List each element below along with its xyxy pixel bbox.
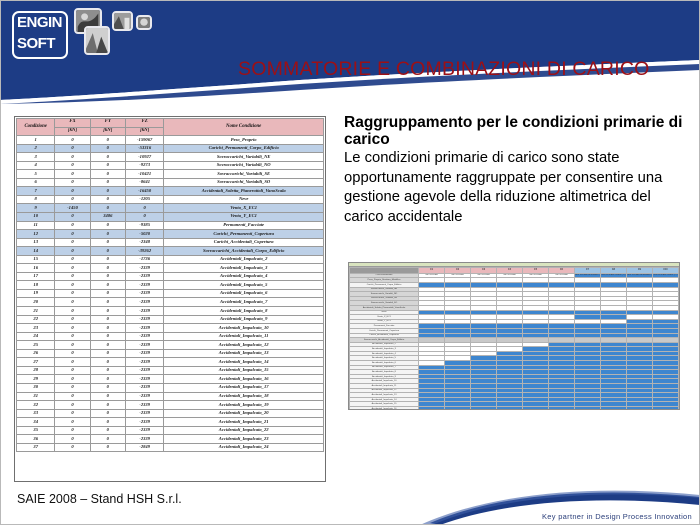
fz-value: -1205	[125, 195, 163, 204]
table-row[interactable]: 300-10927Sovraccarichi_Variabili_NE	[17, 153, 324, 162]
condition-name: Accidentali_Soletta_Pianerottoli_VanoSca…	[164, 187, 324, 196]
cond-number: 19	[17, 289, 55, 298]
matrix-cell	[419, 407, 445, 410]
load-conditions-table: Condizione FX FY FZ Nome Condizione [kN]…	[16, 118, 324, 452]
fy-value: 0	[90, 281, 125, 290]
table-row[interactable]: 1100-9385Permanenti_Facciate	[17, 221, 324, 230]
table-row[interactable]: 1600-2339Accidentali_Impalcato_3	[17, 264, 324, 273]
col-unit-fz: [kN]	[125, 127, 163, 136]
fy-value: 0	[90, 272, 125, 281]
fx-value: 0	[55, 315, 90, 324]
fx-value: -1450	[55, 204, 90, 213]
condition-name: Accidentali_Impalcato_2	[164, 255, 324, 264]
fx-value: 0	[55, 418, 90, 427]
fz-value: -2339	[125, 366, 163, 375]
matrix-cell	[445, 407, 471, 410]
fz-value: -2339	[125, 324, 163, 333]
condition-name: Accidentali_Impalcato_16	[164, 375, 324, 384]
cond-number: 34	[17, 418, 55, 427]
fx-value: 0	[55, 187, 90, 196]
fy-value: 0	[90, 289, 125, 298]
condition-name: Carichi_Permanenti_Copertura	[164, 230, 324, 239]
fy-value: 0	[90, 358, 125, 367]
condition-name: Carichi_Permanenti_Corpo_Edificio	[164, 144, 324, 153]
fy-value: 0	[90, 221, 125, 230]
cond-number: 10	[17, 213, 55, 222]
cond-number: 6	[17, 178, 55, 187]
table-row[interactable]: 3600-2339Accidentali_Impalcato_23	[17, 435, 324, 444]
fy-value: 0	[90, 178, 125, 187]
fy-value: 0	[90, 187, 125, 196]
condition-name: Accidentali_Impalcato_19	[164, 401, 324, 410]
cond-number: 23	[17, 324, 55, 333]
fx-value: 0	[55, 435, 90, 444]
fz-value: -9273	[125, 161, 163, 170]
combinations-matrix-container: C1C2C3C4C5C6C7C8C9C10 Caso ElementareNon…	[348, 262, 680, 410]
fz-value: -159067	[125, 136, 163, 145]
fz-value: -10927	[125, 153, 163, 162]
footer-art: Key partner in Design Process Innovation	[0, 483, 700, 525]
description-heading: Raggruppamento per le condizioni primari…	[344, 114, 692, 148]
fx-value: 0	[55, 349, 90, 358]
fz-value: -8641	[125, 178, 163, 187]
fx-value: 0	[55, 230, 90, 239]
table-row[interactable]: 2300-2339Accidentali_Impalcato_10	[17, 324, 324, 333]
table-row[interactable]: 1200-5020Carichi_Permanenti_Copertura	[17, 230, 324, 239]
combinations-matrix-table: C1C2C3C4C5C6C7C8C9C10 Caso ElementareNon…	[349, 267, 679, 410]
matrix-cell	[523, 407, 549, 410]
cond-number: 1	[17, 136, 55, 145]
table-row[interactable]: 2400-2339Accidentali_Impalcato_11	[17, 332, 324, 341]
fx-value: 0	[55, 213, 90, 222]
col-header-nome-condizione: Nome Condizione	[164, 119, 324, 136]
fz-value: -2339	[125, 392, 163, 401]
table-row[interactable]: 1500-1736Accidentali_Impalcato_2	[17, 255, 324, 264]
cond-number: 25	[17, 341, 55, 350]
matrix-cell	[497, 407, 523, 410]
logo-thumbnail-3	[112, 11, 133, 31]
fz-value: -2339	[125, 375, 163, 384]
fx-value: 0	[55, 409, 90, 418]
fy-value: 0	[90, 195, 125, 204]
cond-number: 27	[17, 358, 55, 367]
condition-name: Accidentali_Impalcato_22	[164, 426, 324, 435]
fx-value: 0	[55, 392, 90, 401]
col-unit-fy: [kN]	[90, 127, 125, 136]
table-header: Condizione FX FY FZ Nome Condizione [kN]…	[17, 119, 324, 136]
fy-value: 0	[90, 153, 125, 162]
table-row[interactable]: 3200-2339Accidentali_Impalcato_19	[17, 401, 324, 410]
table-row[interactable]: 3000-2339Accidentali_Impalcato_17	[17, 383, 324, 392]
table-row[interactable]: 3500-2339Accidentali_Impalcato_22	[17, 426, 324, 435]
table-row[interactable]: 9-145000Vento_X_EC1	[17, 204, 324, 213]
fx-value: 0	[55, 426, 90, 435]
cond-number: 26	[17, 349, 55, 358]
footer-tagline: Key partner in Design Process Innovation	[542, 512, 692, 521]
fy-value: 0	[90, 307, 125, 316]
cond-number: 7	[17, 187, 55, 196]
fy-value: 0	[90, 443, 125, 452]
fx-value: 0	[55, 375, 90, 384]
description-body: Le condizioni primarie di carico sono st…	[344, 149, 692, 227]
condition-name: Sovraccarichi_Accidentali_Corpo_Edificio	[164, 247, 324, 256]
cond-number: 21	[17, 307, 55, 316]
fy-value: 0	[90, 401, 125, 410]
fy-value: 0	[90, 392, 125, 401]
condition-name: Accidentali_Impalcato_17	[164, 383, 324, 392]
table-row[interactable]: 600-8641Sovraccarichi_Variabili_SO	[17, 178, 324, 187]
cond-number: 30	[17, 383, 55, 392]
table-row[interactable]: 1800-2339Accidentali_Impalcato_5	[17, 281, 324, 290]
fz-value: -2339	[125, 418, 163, 427]
table-row[interactable]: 400-9273Sovraccarichi_Variabili_NO	[17, 161, 324, 170]
fx-value: 0	[55, 443, 90, 452]
condition-name: Accidentali_Impalcato_21	[164, 418, 324, 427]
cond-number: 5	[17, 170, 55, 179]
fz-value: -2339	[125, 289, 163, 298]
cond-number: 33	[17, 409, 55, 418]
table-row[interactable]: 2500-2339Accidentali_Impalcato_12	[17, 341, 324, 350]
cond-number: 9	[17, 204, 55, 213]
fz-value: -2339	[125, 358, 163, 367]
fz-value: -2339	[125, 383, 163, 392]
fx-value: 0	[55, 324, 90, 333]
fz-value: -2339	[125, 426, 163, 435]
fz-value: -2339	[125, 307, 163, 316]
condition-name: Accidentali_Impalcato_12	[164, 341, 324, 350]
condition-name: Neve	[164, 195, 324, 204]
condition-name: Accidentali_Impalcato_13	[164, 349, 324, 358]
table-row[interactable]: 2000-2339Accidentali_Impalcato_7	[17, 298, 324, 307]
cond-number: 20	[17, 298, 55, 307]
fz-value: -2339	[125, 272, 163, 281]
table-body: 100-159067Peso_Proprio200-53316Carichi_P…	[17, 136, 324, 452]
enginsoft-logo-text: ENGIN SOFT	[13, 12, 67, 58]
cond-number: 28	[17, 366, 55, 375]
fx-value: 0	[55, 298, 90, 307]
cond-number: 35	[17, 426, 55, 435]
cond-number: 29	[17, 375, 55, 384]
table-row[interactable]: 2900-2339Accidentali_Impalcato_16	[17, 375, 324, 384]
page-title: SOMMATORIE E COMBINAZIONI DI CARICO	[238, 58, 698, 81]
fy-value: 0	[90, 349, 125, 358]
fy-value: 0	[90, 366, 125, 375]
cond-number: 12	[17, 230, 55, 239]
fx-value: 0	[55, 358, 90, 367]
fy-value: 0	[90, 418, 125, 427]
table-row[interactable]: 200-53316Carichi_Permanenti_Corpo_Edific…	[17, 144, 324, 153]
matrix-row[interactable]: Accidentali_Impalcato_16	[350, 407, 679, 410]
fx-value: 0	[55, 144, 90, 153]
table-row[interactable]: 500-10421Sovraccarichi_Variabili_SE	[17, 170, 324, 179]
condition-name: Accidentali_Impalcato_20	[164, 409, 324, 418]
condition-name: Permanenti_Facciate	[164, 221, 324, 230]
fz-value: 0	[125, 213, 163, 222]
matrix-cell	[549, 407, 575, 410]
cond-number: 32	[17, 401, 55, 410]
fx-value: 0	[55, 272, 90, 281]
table-row[interactable]: 2100-2339Accidentali_Impalcato_8	[17, 307, 324, 316]
table-row[interactable]: 3100-2339Accidentali_Impalcato_18	[17, 392, 324, 401]
fy-value: 0	[90, 298, 125, 307]
table-row[interactable]: 100-159067Peso_Proprio	[17, 136, 324, 145]
condition-name: Accidentali_Impalcato_5	[164, 281, 324, 290]
table-row[interactable]: 2600-2339Accidentali_Impalcato_13	[17, 349, 324, 358]
fy-value: 0	[90, 315, 125, 324]
condition-name: Accidentali_Impalcato_18	[164, 392, 324, 401]
fy-value: 0	[90, 136, 125, 145]
condition-name: Accidentali_Impalcato_7	[164, 298, 324, 307]
cond-number: 24	[17, 332, 55, 341]
condition-name: Accidentali_Impalcato_8	[164, 307, 324, 316]
fz-value: -2339	[125, 332, 163, 341]
fy-value: 0	[90, 255, 125, 264]
fz-value: -10421	[125, 170, 163, 179]
cond-number: 18	[17, 281, 55, 290]
cond-number: 22	[17, 315, 55, 324]
fz-value: -2339	[125, 401, 163, 410]
cond-number: 3	[17, 153, 55, 162]
matrix-cell	[471, 407, 497, 410]
condition-name: Sovraccarichi_Variabili_SO	[164, 178, 324, 187]
fx-value: 0	[55, 332, 90, 341]
condition-name: Vento_Y_EC1	[164, 213, 324, 222]
cond-number: 36	[17, 435, 55, 444]
fx-value: 0	[55, 136, 90, 145]
matrix-cell	[626, 407, 652, 410]
condition-name: Vento_X_EC1	[164, 204, 324, 213]
fz-value: -1736	[125, 255, 163, 264]
fy-value: 0	[90, 409, 125, 418]
matrix-cell	[574, 407, 600, 410]
cond-number: 17	[17, 272, 55, 281]
cond-number: 37	[17, 443, 55, 452]
condition-name: Accidentali_Impalcato_10	[164, 324, 324, 333]
cond-number: 15	[17, 255, 55, 264]
cond-number: 8	[17, 195, 55, 204]
fz-value: -39262	[125, 247, 163, 256]
condition-name: Accidentali_Impalcato_4	[164, 272, 324, 281]
fx-value: 0	[55, 247, 90, 256]
fx-value: 0	[55, 264, 90, 273]
fx-value: 0	[55, 366, 90, 375]
condition-name: Accidentali_Impalcato_6	[164, 289, 324, 298]
cond-number: 31	[17, 392, 55, 401]
slide-header: ENGIN SOFT SOMMATORIE E COMBINAZIONI DI …	[0, 0, 700, 104]
condition-name: Accidentali_Impalcato_14	[164, 358, 324, 367]
fx-value: 0	[55, 255, 90, 264]
logo-thumbnail-4	[136, 15, 152, 30]
condition-name: Sovraccarichi_Variabili_NE	[164, 153, 324, 162]
fy-value: 0	[90, 161, 125, 170]
logo-line-2: SOFT	[17, 33, 67, 54]
fz-value: -53316	[125, 144, 163, 153]
col-header-fx: FX	[55, 119, 90, 128]
header-row-names: Condizione FX FY FZ Nome Condizione	[17, 119, 324, 128]
fx-value: 0	[55, 383, 90, 392]
matrix-cell	[600, 407, 626, 410]
cond-number: 11	[17, 221, 55, 230]
fz-value: -9385	[125, 221, 163, 230]
table-row[interactable]: 1900-2339Accidentali_Impalcato_6	[17, 289, 324, 298]
fy-value: 0	[90, 247, 125, 256]
fx-value: 0	[55, 153, 90, 162]
table-row[interactable]: 1300-2348Carichi_Accidentali_Copertura	[17, 238, 324, 247]
condition-name: Carichi_Accidentali_Copertura	[164, 238, 324, 247]
table-row[interactable]: 2800-2339Accidentali_Impalcato_15	[17, 366, 324, 375]
table-row[interactable]: 2700-2339Accidentali_Impalcato_14	[17, 358, 324, 367]
fy-value: 0	[90, 426, 125, 435]
cond-number: 14	[17, 247, 55, 256]
fx-value: 0	[55, 238, 90, 247]
table-row[interactable]: 800-1205Neve	[17, 195, 324, 204]
fz-value: -2339	[125, 349, 163, 358]
table-row[interactable]: 1400-39262Sovraccarichi_Accidentali_Corp…	[17, 247, 324, 256]
fx-value: 0	[55, 289, 90, 298]
col-header-fy: FY	[90, 119, 125, 128]
fx-value: 0	[55, 341, 90, 350]
fy-value: 0	[90, 332, 125, 341]
fy-value: 0	[90, 204, 125, 213]
fy-value: 0	[90, 144, 125, 153]
fx-value: 0	[55, 281, 90, 290]
fy-value: 0	[90, 341, 125, 350]
fx-value: 0	[55, 170, 90, 179]
fx-value: 0	[55, 401, 90, 410]
fy-value: 3486	[90, 213, 125, 222]
condition-name: Accidentali_Impalcato_24	[164, 443, 324, 452]
fz-value: -2339	[125, 341, 163, 350]
matrix-row-label: Accidentali_Impalcato_16	[350, 407, 419, 410]
table-row[interactable]: 3700-2849Accidentali_Impalcato_24	[17, 443, 324, 452]
matrix-cell	[652, 407, 678, 410]
condition-name: Accidentali_Impalcato_9	[164, 315, 324, 324]
fz-value: -2339	[125, 315, 163, 324]
fy-value: 0	[90, 264, 125, 273]
fz-value: -2339	[125, 298, 163, 307]
matrix-header: C1C2C3C4C5C6C7C8C9C10 Caso ElementareNon…	[350, 268, 679, 278]
col-header-condizione: Condizione	[17, 119, 55, 136]
cond-number: 4	[17, 161, 55, 170]
logo-line-1: ENGIN	[17, 12, 67, 33]
condition-name: Accidentali_Impalcato_23	[164, 435, 324, 444]
fx-value: 0	[55, 307, 90, 316]
fy-value: 0	[90, 170, 125, 179]
fz-value: -2348	[125, 238, 163, 247]
fz-value: 0	[125, 204, 163, 213]
table-row[interactable]: 1700-2339Accidentali_Impalcato_4	[17, 272, 324, 281]
load-conditions-table-container: Condizione FX FY FZ Nome Condizione [kN]…	[14, 116, 326, 482]
table-row[interactable]: 10034860Vento_Y_EC1	[17, 213, 324, 222]
fy-value: 0	[90, 324, 125, 333]
col-unit-fx: [kN]	[55, 127, 90, 136]
fz-value: -5020	[125, 230, 163, 239]
fz-value: -2339	[125, 435, 163, 444]
condition-name: Peso_Proprio	[164, 136, 324, 145]
fy-value: 0	[90, 230, 125, 239]
condition-name: Sovraccarichi_Variabili_NO	[164, 161, 324, 170]
table-row[interactable]: 2200-2339Accidentali_Impalcato_9	[17, 315, 324, 324]
description-block: Raggruppamento per le condizioni primari…	[344, 114, 692, 227]
fz-value: -16450	[125, 187, 163, 196]
table-row[interactable]: 3300-2339Accidentali_Impalcato_20	[17, 409, 324, 418]
fx-value: 0	[55, 221, 90, 230]
fx-value: 0	[55, 178, 90, 187]
cond-number: 16	[17, 264, 55, 273]
logo-thumbnail-2	[84, 26, 110, 55]
condition-name: Accidentali_Impalcato_15	[164, 366, 324, 375]
fz-value: -2339	[125, 264, 163, 273]
fz-value: -2339	[125, 281, 163, 290]
condition-name: Sovraccarichi_Variabili_SE	[164, 170, 324, 179]
matrix-body: Peso_Proprio_Struttura_MetallicaCarichi_…	[350, 278, 679, 410]
col-header-fz: FZ	[125, 119, 163, 128]
fz-value: -2339	[125, 409, 163, 418]
condition-name: Accidentali_Impalcato_3	[164, 264, 324, 273]
cond-number: 13	[17, 238, 55, 247]
table-row[interactable]: 700-16450Accidentali_Soletta_Pianerottol…	[17, 187, 324, 196]
fy-value: 0	[90, 435, 125, 444]
fx-value: 0	[55, 195, 90, 204]
fz-value: -2849	[125, 443, 163, 452]
fx-value: 0	[55, 161, 90, 170]
fy-value: 0	[90, 375, 125, 384]
condition-name: Accidentali_Impalcato_11	[164, 332, 324, 341]
table-row[interactable]: 3400-2339Accidentali_Impalcato_21	[17, 418, 324, 427]
fy-value: 0	[90, 383, 125, 392]
cond-number: 2	[17, 144, 55, 153]
fy-value: 0	[90, 238, 125, 247]
